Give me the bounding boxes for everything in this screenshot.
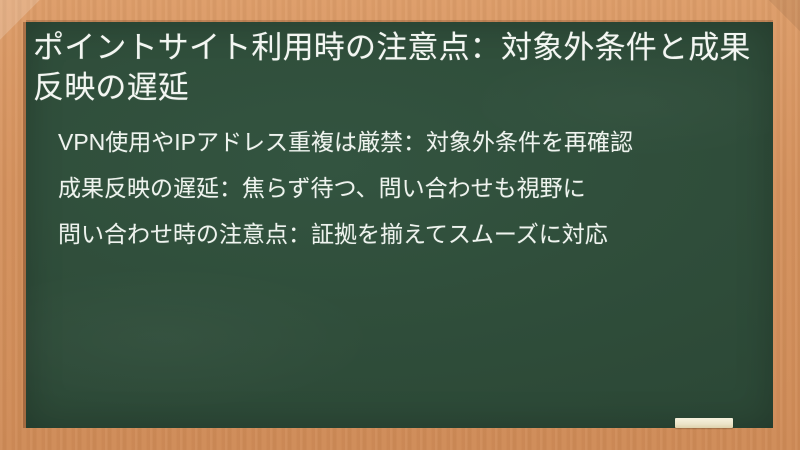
board-list-item: 成果反映の遅延：焦らず待つ、問い合わせも視野に [58, 173, 755, 203]
board-list-item: 問い合わせ時の注意点：証拠を揃えてスムーズに対応 [58, 219, 755, 249]
chalk-stick-icon [675, 418, 733, 428]
blackboard-frame: ポイントサイト利用時の注意点：対象外条件と成果反映の遅延 VPN使用やIPアドレ… [0, 0, 800, 450]
chalkboard-surface: ポイントサイト利用時の注意点：対象外条件と成果反映の遅延 VPN使用やIPアドレ… [26, 22, 773, 428]
board-content: ポイントサイト利用時の注意点：対象外条件と成果反映の遅延 VPN使用やIPアドレ… [26, 22, 773, 250]
board-bullet-list: VPN使用やIPアドレス重複は厳禁：対象外条件を再確認 成果反映の遅延：焦らず待… [26, 127, 773, 250]
board-title: ポイントサイト利用時の注意点：対象外条件と成果反映の遅延 [26, 22, 773, 109]
board-list-item: VPN使用やIPアドレス重複は厳禁：対象外条件を再確認 [58, 127, 755, 157]
